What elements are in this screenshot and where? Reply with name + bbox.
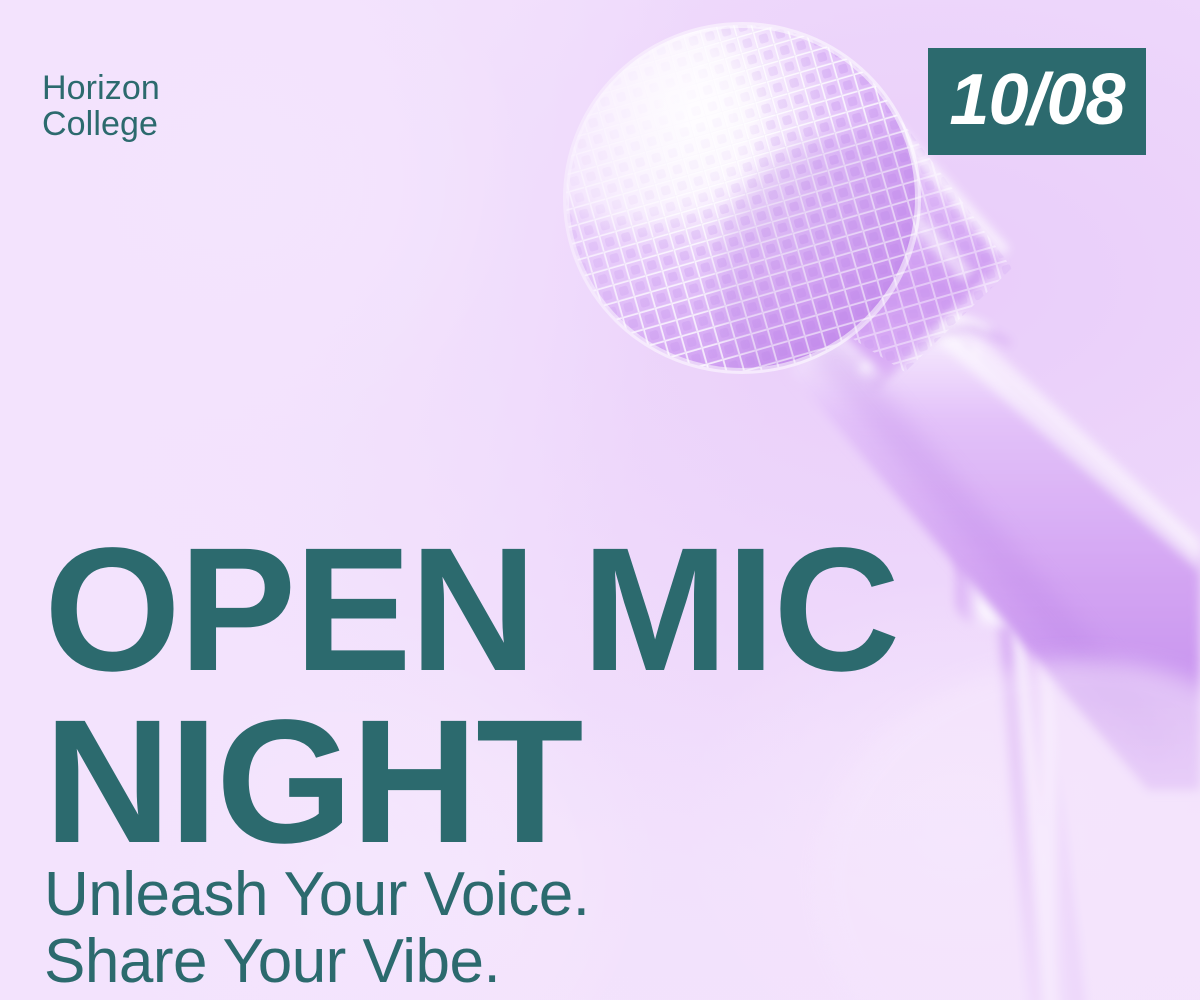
- brand-name: Horizon College: [42, 70, 160, 143]
- page-title: OPEN MIC NIGHT: [44, 524, 1004, 869]
- date-badge: 10/08: [928, 48, 1146, 155]
- tagline: Unleash Your Voice. Share Your Vibe.: [44, 862, 844, 996]
- poster-canvas: Horizon College 10/08 OPEN MIC NIGHT Unl…: [0, 0, 1200, 1000]
- date-badge-value: 10/08: [949, 64, 1124, 136]
